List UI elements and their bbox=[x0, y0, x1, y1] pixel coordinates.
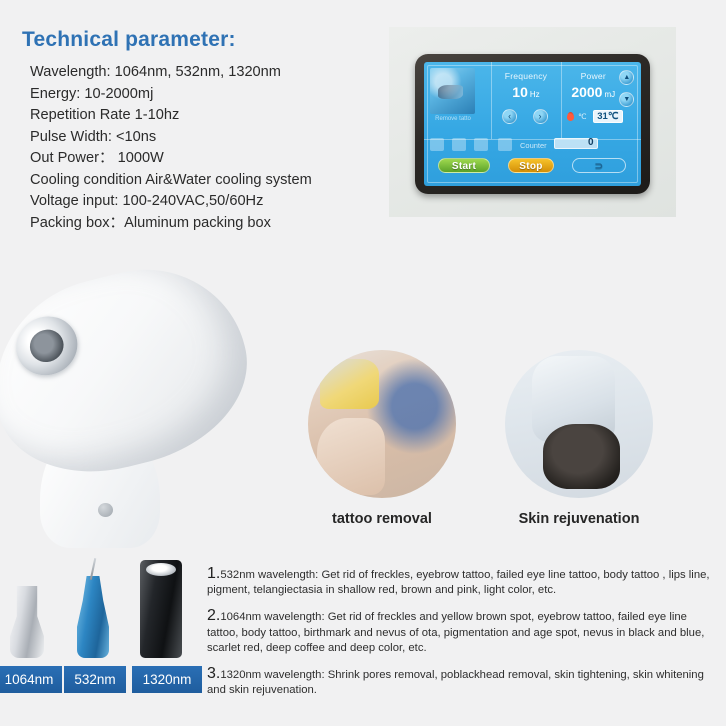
description-number-3: 3. bbox=[207, 665, 220, 682]
laser-handpiece-photo bbox=[0, 258, 300, 558]
control-panel-photo: Remove tatto Frequency 10Hz Power 2000mJ… bbox=[389, 27, 676, 217]
spec-item-voltage: Voltage input: 100-240VAC,50/60Hz bbox=[30, 191, 372, 213]
frequency-label: Frequency bbox=[491, 71, 560, 81]
spec-item-out-power: Out Power： 1000W bbox=[30, 148, 372, 170]
frequency-increase-icon[interactable]: › bbox=[533, 109, 548, 124]
probe-tip-1320nm bbox=[140, 560, 182, 658]
power-field: Power 2000mJ bbox=[561, 71, 626, 100]
spec-item-wavelength: Wavelength: 1064nm, 532nm, 1320nm bbox=[30, 62, 372, 84]
probe-tip-532nm bbox=[77, 576, 109, 658]
description-item-3: 3.1320nm wavelength: Shrink pores remova… bbox=[207, 666, 719, 698]
thumbnail-caption: Remove tatto bbox=[428, 116, 478, 122]
temperature-display: 31℃ bbox=[593, 110, 622, 123]
description-number-2: 2. bbox=[207, 607, 220, 624]
product-spec-sheet: Technical parameter: Wavelength: 1064nm,… bbox=[0, 0, 726, 726]
description-text-2: 1064nm wavelength: Get rid of freckles a… bbox=[207, 611, 704, 653]
laser-flash-icon[interactable] bbox=[498, 138, 512, 151]
description-text-3: 1320nm wavelength: Shrink pores removal,… bbox=[207, 669, 704, 696]
power-label: Power bbox=[561, 71, 626, 81]
description-text-1: 532nm wavelength: Get rid of freckles, e… bbox=[207, 569, 710, 596]
wavelength-label-1064: 1064nm bbox=[0, 666, 62, 693]
frequency-value-group: 10Hz bbox=[491, 84, 560, 100]
wavelength-label-532: 532nm bbox=[64, 666, 126, 693]
probe-tips-group: 1064nm 532nm 1320nm bbox=[0, 548, 200, 726]
lamp-icon[interactable] bbox=[452, 138, 466, 151]
handpiece-button bbox=[98, 503, 113, 517]
counter-value: 0 bbox=[588, 137, 594, 148]
water-drop-icon bbox=[567, 112, 574, 121]
skin-rejuvenation-photo bbox=[505, 350, 653, 498]
frequency-value: 10 bbox=[512, 84, 528, 100]
back-button[interactable]: ⊃ bbox=[572, 158, 626, 173]
treatment-thumbnail[interactable] bbox=[430, 68, 475, 114]
description-item-1: 1.532nm wavelength: Get rid of freckles,… bbox=[207, 566, 719, 598]
spec-list: Wavelength: 1064nm, 532nm, 1320nm Energy… bbox=[22, 62, 372, 234]
touchscreen-display[interactable]: Remove tatto Frequency 10Hz Power 2000mJ… bbox=[424, 62, 641, 186]
application-tattoo-removal: tattoo removal bbox=[308, 350, 456, 527]
power-value-group: 2000mJ bbox=[561, 84, 626, 100]
start-button[interactable]: Start bbox=[438, 158, 490, 173]
application-skin-rejuvenation: Skin rejuvenation bbox=[505, 350, 653, 527]
frequency-unit: Hz bbox=[530, 90, 540, 99]
celsius-icon: ℃ bbox=[578, 112, 586, 121]
handpiece-icon[interactable] bbox=[474, 138, 488, 151]
wavelength-label-1320: 1320nm bbox=[132, 666, 202, 693]
description-item-2: 2.1064nm wavelength: Get rid of freckles… bbox=[207, 608, 719, 656]
probe-tip-1064nm bbox=[10, 586, 44, 658]
page-title: Technical parameter: bbox=[22, 28, 372, 52]
power-unit: mJ bbox=[604, 90, 615, 99]
settings-icon[interactable] bbox=[430, 138, 444, 151]
spec-item-cooling: Cooling condition Air&Water cooling syst… bbox=[30, 170, 372, 192]
handpiece-aperture bbox=[6, 306, 87, 385]
technical-parameter-block: Technical parameter: Wavelength: 1064nm,… bbox=[22, 28, 372, 234]
spec-item-pulse-width: Pulse Width: <10ns bbox=[30, 127, 372, 149]
frequency-field: Frequency 10Hz bbox=[491, 71, 560, 100]
tattoo-removal-caption: tattoo removal bbox=[308, 511, 456, 527]
stop-button[interactable]: Stop bbox=[508, 158, 554, 173]
power-value: 2000 bbox=[571, 84, 602, 100]
description-number-1: 1. bbox=[207, 565, 220, 582]
handpiece-body bbox=[0, 248, 266, 494]
spec-item-repetition-rate: Repetition Rate 1-10hz bbox=[30, 105, 372, 127]
spec-item-energy: Energy: 10-2000mj bbox=[30, 84, 372, 106]
spec-item-packing-box: Packing box：Aluminum packing box bbox=[30, 213, 372, 235]
tattoo-removal-photo bbox=[308, 350, 456, 498]
touchscreen-bezel: Remove tatto Frequency 10Hz Power 2000mJ… bbox=[415, 54, 650, 194]
skin-rejuvenation-caption: Skin rejuvenation bbox=[505, 511, 653, 527]
counter-label: Counter bbox=[520, 141, 547, 150]
wavelength-descriptions: 1.532nm wavelength: Get rid of freckles,… bbox=[207, 566, 719, 708]
